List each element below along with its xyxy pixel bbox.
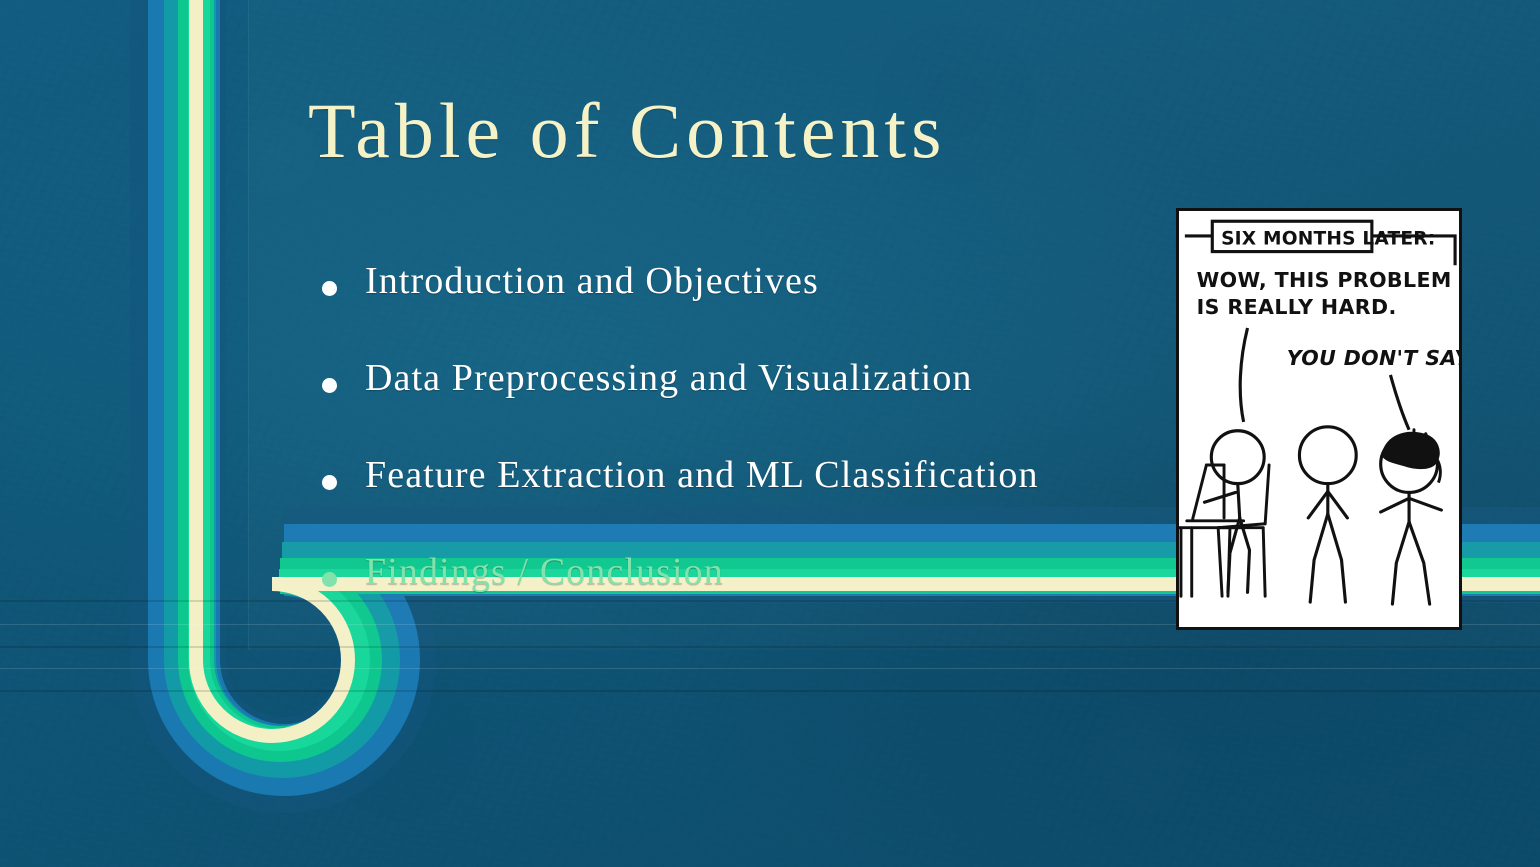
comic-image: SIX MONTHS LATER: WOW, THIS PROBLEM IS R… (1176, 208, 1462, 630)
comic-dialogue-line-3: YOU DON'T SAY. (1287, 346, 1459, 370)
list-item[interactable]: Introduction and Objectives (322, 262, 1142, 359)
page-title: Table of Contents (308, 92, 1128, 170)
table-of-contents-list: Introduction and Objectives Data Preproc… (322, 262, 1142, 650)
comic-caption-text: SIX MONTHS LATER: (1221, 229, 1435, 250)
bullet-dot-icon (322, 475, 337, 490)
bullet-dot-icon (322, 378, 337, 393)
list-item[interactable]: Feature Extraction and ML Classification (322, 456, 1142, 553)
bullet-dot-icon (322, 572, 337, 587)
comic-dialogue-line-1: WOW, THIS PROBLEM (1197, 268, 1452, 292)
list-item-label: Findings / Conclusion (365, 553, 724, 593)
list-item[interactable]: Findings / Conclusion (322, 553, 1142, 650)
bullet-dot-icon (322, 281, 337, 296)
list-item-label: Data Preprocessing and Visualization (365, 359, 973, 399)
list-item-label: Introduction and Objectives (365, 262, 819, 302)
comic-drawing: SIX MONTHS LATER: WOW, THIS PROBLEM IS R… (1179, 211, 1459, 627)
presentation-slide: Table of Contents Introduction and Objec… (0, 0, 1540, 867)
list-item[interactable]: Data Preprocessing and Visualization (322, 359, 1142, 456)
comic-dialogue-line-2: IS REALLY HARD. (1197, 295, 1397, 319)
list-item-label: Feature Extraction and ML Classification (365, 456, 1039, 496)
